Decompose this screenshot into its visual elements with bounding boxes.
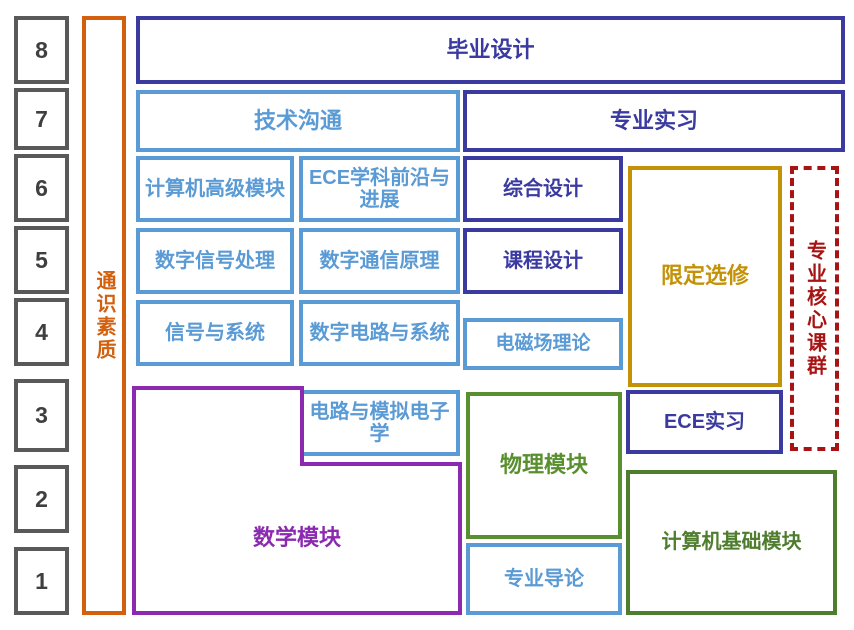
semester-box-1: 1 xyxy=(14,547,69,615)
semester-label: 7 xyxy=(35,106,48,133)
math-module-upper-shape xyxy=(132,386,304,466)
block-ece-practice[interactable]: ECE实习 xyxy=(626,390,783,454)
block-label: ECE实习 xyxy=(664,411,745,433)
block-electromagnetic-field[interactable]: 电磁场理论 xyxy=(463,318,623,370)
block-digital-communication[interactable]: 数字通信原理 xyxy=(299,228,460,294)
block-label: 专业导论 xyxy=(504,568,584,590)
block-label: 物理模块 xyxy=(500,453,588,478)
block-graduation-design[interactable]: 毕业设计 xyxy=(136,16,845,84)
block-label: 课程设计 xyxy=(503,250,583,272)
semester-label: 5 xyxy=(35,247,48,274)
block-digital-circuits[interactable]: 数字电路与系统 xyxy=(299,300,460,366)
block-math-module[interactable]: 数学模块 xyxy=(132,386,462,615)
block-label: 信号与系统 xyxy=(165,322,265,344)
block-computer-basics[interactable]: 计算机基础模块 xyxy=(626,470,837,615)
core-course-group-label: 专业核心课群 xyxy=(805,240,825,378)
block-label: 数学模块 xyxy=(132,516,462,556)
general-education-band[interactable]: 通识素质 xyxy=(82,16,126,615)
block-course-design[interactable]: 课程设计 xyxy=(463,228,623,294)
block-comprehensive-design[interactable]: 综合设计 xyxy=(463,156,623,222)
core-course-group-band[interactable]: 专业核心课群 xyxy=(790,166,839,451)
math-module-seam-mask xyxy=(136,458,300,468)
block-restricted-electives[interactable]: 限定选修 xyxy=(628,166,782,387)
block-dsp[interactable]: 数字信号处理 xyxy=(136,228,294,294)
semester-label: 2 xyxy=(35,486,48,513)
curriculum-diagram: 8 7 6 5 4 3 2 1 通识素质 毕业设计 技术沟通 专业实习 计算机高… xyxy=(0,0,854,630)
block-physics-module[interactable]: 物理模块 xyxy=(466,392,622,539)
semester-box-7: 7 xyxy=(14,88,69,150)
general-education-label: 通识素质 xyxy=(94,270,114,362)
semester-box-4: 4 xyxy=(14,298,69,366)
block-label: ECE学科前沿与进展 xyxy=(307,167,452,212)
semester-label: 3 xyxy=(35,402,48,429)
semester-box-6: 6 xyxy=(14,154,69,222)
block-label: 电磁场理论 xyxy=(495,333,590,354)
block-label: 数字电路与系统 xyxy=(310,322,450,344)
semester-label: 6 xyxy=(35,175,48,202)
block-label: 技术沟通 xyxy=(254,109,342,134)
block-signals-and-systems[interactable]: 信号与系统 xyxy=(136,300,294,366)
block-label: 综合设计 xyxy=(503,178,583,200)
block-technical-communication[interactable]: 技术沟通 xyxy=(136,90,460,152)
block-label: 数字信号处理 xyxy=(155,250,275,272)
semester-label: 4 xyxy=(35,319,48,346)
semester-label: 8 xyxy=(35,37,48,64)
semester-label: 1 xyxy=(35,568,48,595)
semester-box-8: 8 xyxy=(14,16,69,84)
block-intro-to-major[interactable]: 专业导论 xyxy=(466,543,622,615)
semester-box-3: 3 xyxy=(14,379,69,452)
semester-box-2: 2 xyxy=(14,465,69,533)
block-ece-frontiers[interactable]: ECE学科前沿与进展 xyxy=(299,156,460,222)
block-label: 限定选修 xyxy=(661,264,749,289)
block-label: 专业实习 xyxy=(610,109,698,134)
semester-box-5: 5 xyxy=(14,226,69,294)
block-advanced-computer-module[interactable]: 计算机高级模块 xyxy=(136,156,294,222)
block-professional-internship[interactable]: 专业实习 xyxy=(463,90,845,152)
block-label: 计算机基础模块 xyxy=(662,531,802,553)
block-label: 数字通信原理 xyxy=(320,250,440,272)
block-label: 毕业设计 xyxy=(446,38,534,63)
block-label: 计算机高级模块 xyxy=(145,178,285,200)
